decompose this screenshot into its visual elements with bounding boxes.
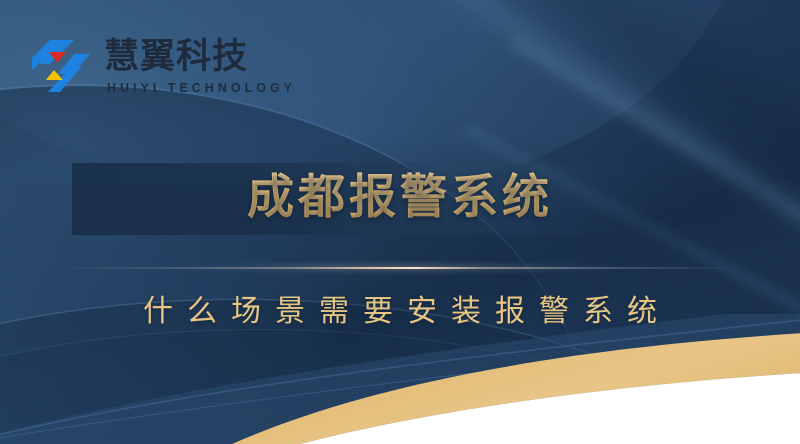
brand-name-cn: 慧翼科技 bbox=[104, 40, 296, 75]
brand-name-en: HUIYI TECHNOLOGY bbox=[104, 81, 296, 95]
divider bbox=[0, 260, 800, 276]
divider-line bbox=[60, 267, 740, 269]
brand-logo[interactable]: 慧翼科技 HUIYI TECHNOLOGY bbox=[30, 36, 296, 96]
banner-root: 慧翼科技 HUIYI TECHNOLOGY 成都报警系统 什么场景需要安装报警系… bbox=[0, 0, 800, 444]
huiyi-z-arrow-logo-icon bbox=[30, 36, 92, 96]
page-title: 成都报警系统 bbox=[0, 160, 800, 236]
page-subtitle: 什么场景需要安装报警系统 bbox=[0, 290, 800, 334]
brand-text: 慧翼科技 HUIYI TECHNOLOGY bbox=[104, 38, 296, 95]
